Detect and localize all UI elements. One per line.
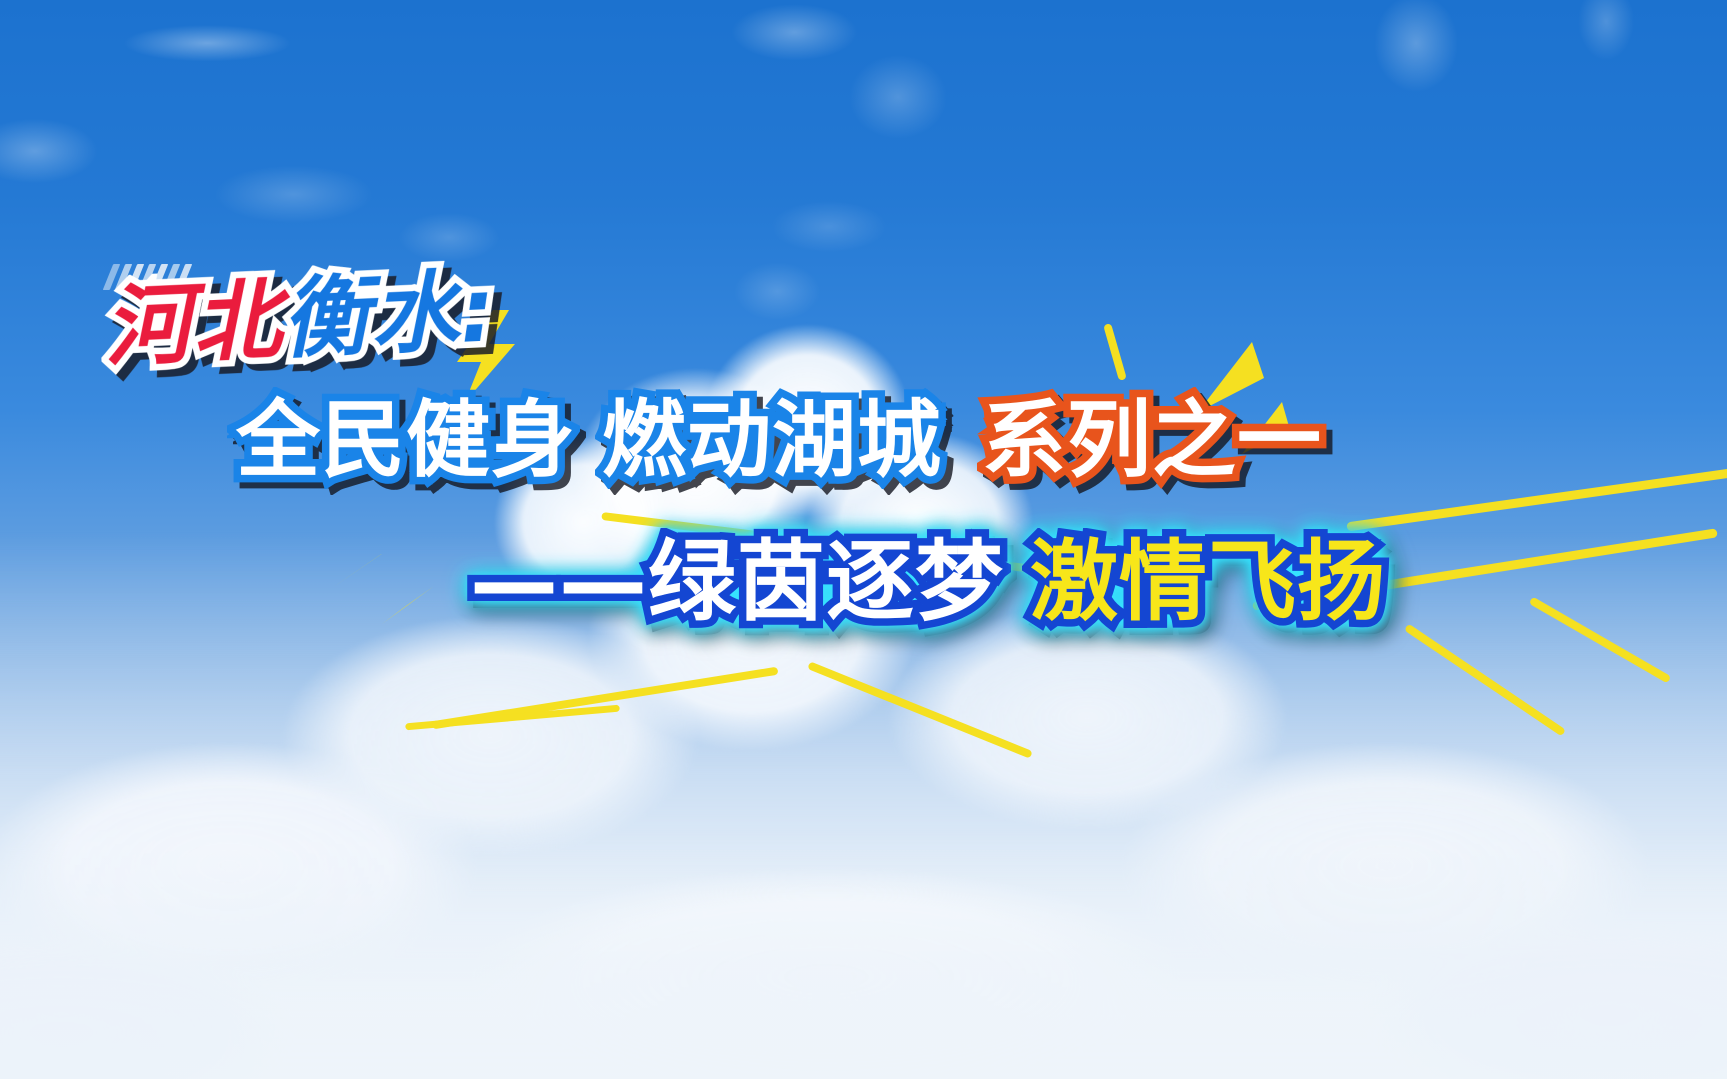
title-line3-segment-dream: ——绿茵逐梦	[470, 530, 1004, 633]
title-line2-segment-lakecity: 燃动湖城	[602, 391, 942, 489]
title-line2-segment-fitness: 全民健身	[236, 391, 576, 489]
title-line1-segment-region: 河北	[102, 268, 285, 379]
title-text-block: 河北衡水: 全民健身燃动湖城系列之一 ——绿茵逐梦激情飞扬	[0, 262, 1727, 682]
title-line-2: 全民健身燃动湖城系列之一	[236, 398, 1322, 482]
title-line1-segment-city: 衡水:	[279, 258, 498, 371]
title-line-1: 河北衡水:	[102, 266, 498, 372]
horizon-haze	[0, 842, 1727, 1079]
title-line-3: ——绿茵逐梦激情飞扬	[470, 538, 1386, 626]
title-line3-segment-passion: 激情飞扬	[1030, 530, 1386, 633]
video-title-card: 河北衡水: 全民健身燃动湖城系列之一 ——绿茵逐梦激情飞扬	[0, 0, 1727, 1079]
title-line2-segment-series: 系列之一	[982, 391, 1322, 489]
